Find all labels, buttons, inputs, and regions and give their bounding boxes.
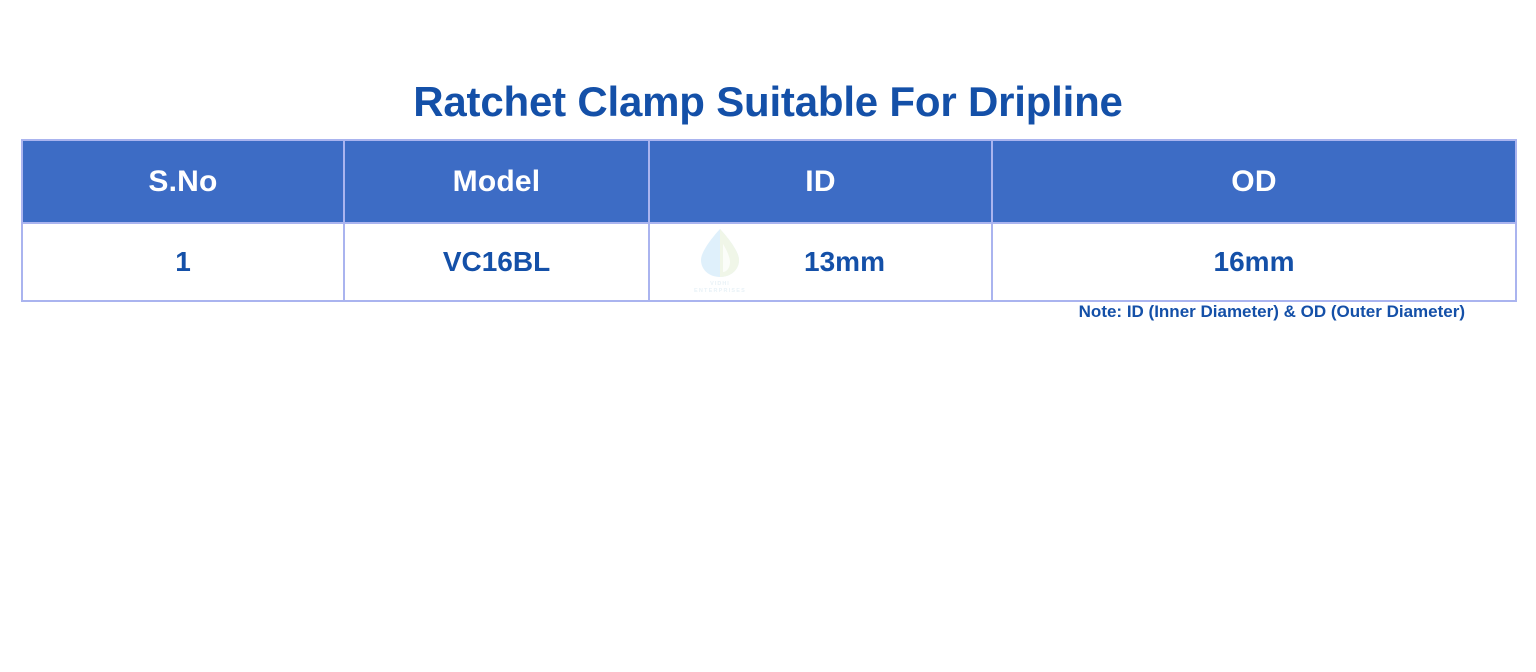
column-header-sno: S.No <box>22 140 344 223</box>
column-header-id: ID <box>649 140 992 223</box>
specification-table: S.No Model ID OD 1 VC16BL <box>21 139 1517 302</box>
watermark-line-2: ENTERPRISES <box>670 288 770 295</box>
table-note: Note: ID (Inner Diameter) & OD (Outer Di… <box>0 302 1465 322</box>
cell-id-value: 13mm <box>756 246 885 278</box>
watermark-line-1: VIDHI <box>670 281 770 288</box>
cell-od: 16mm <box>992 223 1516 301</box>
table-body: 1 VC16BL VIDHI ENTERPRISES <box>22 223 1516 301</box>
watermark-text: VIDHI ENTERPRISES <box>670 281 770 296</box>
product-spec-page: Ratchet Clamp Suitable For Dripline S.No… <box>0 0 1536 672</box>
column-header-model: Model <box>344 140 649 223</box>
cell-model: VC16BL <box>344 223 649 301</box>
cell-id: VIDHI ENTERPRISES 13mm <box>649 223 992 301</box>
table-header: S.No Model ID OD <box>22 140 1516 223</box>
page-title: Ratchet Clamp Suitable For Dripline <box>0 78 1536 126</box>
watermark: VIDHI ENTERPRISES <box>670 226 770 298</box>
table-header-row: S.No Model ID OD <box>22 140 1516 223</box>
column-header-od: OD <box>992 140 1516 223</box>
water-droplet-leaf-icon <box>693 226 747 280</box>
cell-sno: 1 <box>22 223 344 301</box>
table-row: 1 VC16BL VIDHI ENTERPRISES <box>22 223 1516 301</box>
